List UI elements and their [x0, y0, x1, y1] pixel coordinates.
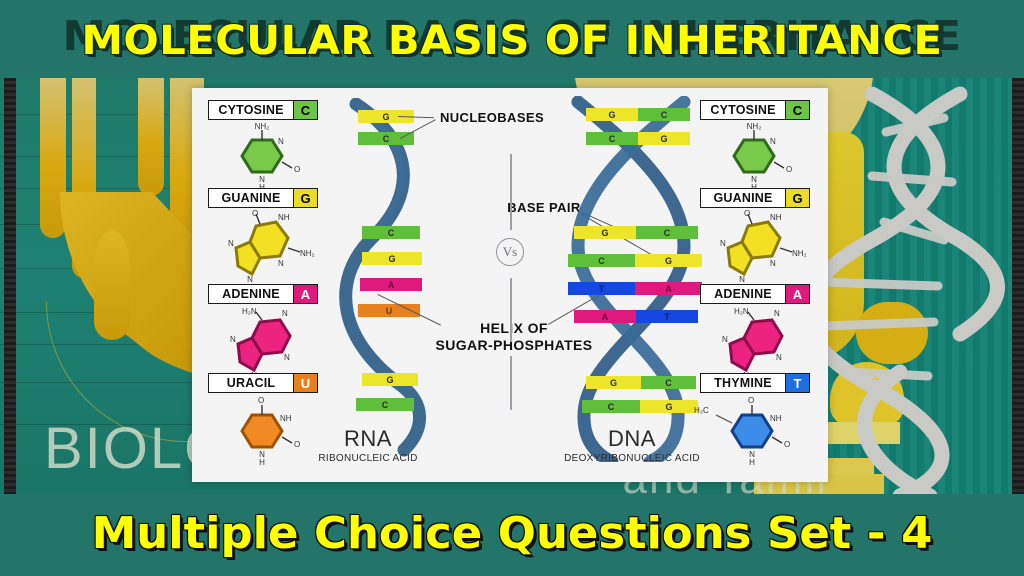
- base-letter-left: T: [568, 282, 635, 295]
- rna-rung-mid-2: G: [362, 252, 422, 265]
- rna-rung-mid-1: C: [362, 226, 420, 239]
- base-letter-right: T: [636, 310, 698, 323]
- svg-text:N: N: [776, 353, 782, 362]
- base-name: CYTOSINE: [209, 101, 293, 119]
- right-edge-band: [1012, 72, 1024, 496]
- base-letter-left: G: [574, 226, 636, 239]
- molecule-thymine-right: O NH O H₃C N H: [688, 393, 804, 471]
- base-letter-right: C: [638, 108, 690, 121]
- rna-name: RNA: [268, 426, 468, 452]
- base-letter-right: A: [635, 282, 702, 295]
- svg-text:N: N: [247, 275, 253, 284]
- svg-text:H: H: [259, 458, 265, 467]
- slide-canvas: BIOLOGY and Tamil CYTOSINE C NH₂ N O N H…: [0, 0, 1024, 576]
- base-chip-adenine-left: ADENINE A: [208, 284, 318, 304]
- dna-pair-mid-3: T A: [568, 282, 702, 295]
- title-banner: MOLECULAR BASIS OF INHERITANCE MOLECULAR…: [0, 0, 1024, 78]
- molecule-cytosine-left: NH₂ N O N H: [218, 122, 310, 190]
- svg-text:N: N: [739, 275, 745, 284]
- molecule-cytosine-right: NH₂ N O N H: [710, 122, 802, 190]
- svg-text:NH₂: NH₂: [255, 122, 270, 131]
- base-letter-right: G: [638, 132, 690, 145]
- left-edge-band: [4, 72, 16, 496]
- base-letter: U: [293, 374, 317, 392]
- base-letter: C: [293, 101, 317, 119]
- svg-text:N: N: [720, 239, 726, 248]
- base-letter-right: C: [636, 226, 698, 239]
- svg-text:O: O: [252, 209, 258, 218]
- nucleobases-label: NUCLEOBASES: [422, 110, 562, 126]
- svg-text:NH₂: NH₂: [747, 122, 762, 131]
- rna-full-name: RIBONUCLEIC ACID: [268, 453, 468, 464]
- base-chip-adenine-right: ADENINE A: [700, 284, 810, 304]
- svg-text:N: N: [278, 137, 284, 146]
- base-chip-guanine-right: GUANINE G: [700, 188, 810, 208]
- base-letter-right: G: [635, 254, 702, 267]
- base-chip-cytosine-left: CYTOSINE C: [208, 100, 318, 120]
- svg-text:N: N: [228, 239, 234, 248]
- svg-text:N: N: [282, 309, 288, 318]
- base-letter-left: C: [582, 400, 640, 413]
- svg-text:H: H: [749, 458, 755, 467]
- svg-text:NH: NH: [770, 213, 782, 222]
- base-name: ADENINE: [209, 285, 293, 303]
- base-chip-guanine-left: GUANINE G: [208, 188, 318, 208]
- dna-pair-bottom-1: G C: [586, 376, 696, 389]
- page-title: MOLECULAR BASIS OF INHERITANCE: [0, 18, 1024, 64]
- svg-text:NH₂: NH₂: [300, 249, 315, 258]
- base-letter: C: [356, 398, 414, 411]
- base-letter: G: [293, 189, 317, 207]
- svg-text:O: O: [786, 165, 792, 174]
- svg-text:O: O: [784, 440, 790, 449]
- base-name: GUANINE: [701, 189, 785, 207]
- base-letter-left: G: [586, 376, 641, 389]
- center-divider-mid: [510, 278, 512, 342]
- rna-rung-mid-3: A: [360, 278, 422, 291]
- content-card: CYTOSINE C NH₂ N O N H GUANINE G O NH N …: [192, 88, 828, 482]
- svg-text:O: O: [748, 396, 754, 405]
- svg-text:NH₂: NH₂: [792, 249, 807, 258]
- subtitle-banner: Multiple Choice Questions Set - 4: [0, 494, 1024, 576]
- base-name: THYMINE: [701, 374, 785, 392]
- base-letter: A: [360, 278, 422, 291]
- svg-text:N: N: [770, 137, 776, 146]
- molecule-guanine-right: O NH N NH₂ N N: [704, 208, 808, 284]
- center-divider-top: [510, 154, 512, 230]
- base-letter-left: A: [574, 310, 636, 323]
- base-letter-left: C: [568, 254, 635, 267]
- base-letter: G: [785, 189, 809, 207]
- base-letter-left: G: [586, 108, 638, 121]
- svg-text:H₂N: H₂N: [242, 307, 257, 316]
- svg-text:O: O: [294, 165, 300, 174]
- svg-text:N: N: [230, 335, 236, 344]
- svg-text:NH: NH: [280, 414, 292, 423]
- versus-badge: Vs: [496, 238, 524, 266]
- svg-text:N: N: [722, 335, 728, 344]
- dna-pair-bottom-2: C G: [582, 400, 698, 413]
- base-letter-left: C: [586, 132, 638, 145]
- rna-rung-bottom-1: G: [362, 373, 418, 386]
- rna-rung-bottom-2: C: [356, 398, 414, 411]
- svg-text:NH: NH: [770, 414, 782, 423]
- base-name: GUANINE: [209, 189, 293, 207]
- base-chip-thymine-right: THYMINE T: [700, 373, 810, 393]
- svg-text:O: O: [744, 209, 750, 218]
- base-letter: G: [362, 252, 422, 265]
- svg-text:O: O: [258, 396, 264, 405]
- molecule-adenine-right: H₂N N N N N: [704, 304, 808, 376]
- base-name: URACIL: [209, 374, 293, 392]
- svg-text:N: N: [278, 259, 284, 268]
- svg-text:N: N: [774, 309, 780, 318]
- svg-text:H₃C: H₃C: [694, 406, 709, 415]
- base-letter: T: [785, 374, 809, 392]
- base-chip-uracil-left: URACIL U: [208, 373, 318, 393]
- molecule-adenine-left: H₂N N N N N: [212, 304, 316, 376]
- svg-text:H₂N: H₂N: [734, 307, 749, 316]
- dna-pair-top-1: G C: [586, 108, 690, 121]
- rna-name-block: RNA RIBONUCLEIC ACID: [268, 426, 468, 464]
- base-letter-right: C: [641, 376, 696, 389]
- base-chip-cytosine-right: CYTOSINE C: [700, 100, 810, 120]
- center-divider-bottom: [510, 356, 512, 410]
- base-letter: A: [293, 285, 317, 303]
- dna-pair-mid-2: C G: [568, 254, 702, 267]
- base-letter: G: [362, 373, 418, 386]
- svg-text:N: N: [284, 353, 290, 362]
- dna-pair-top-2: C G: [586, 132, 690, 145]
- base-letter: A: [785, 285, 809, 303]
- base-letter: C: [362, 226, 420, 239]
- page-subtitle: Multiple Choice Questions Set - 4: [0, 508, 1024, 559]
- base-letter: C: [785, 101, 809, 119]
- base-name: CYTOSINE: [701, 101, 785, 119]
- molecule-guanine-left: O NH N NH₂ N N: [212, 208, 316, 284]
- base-name: ADENINE: [701, 285, 785, 303]
- svg-text:NH: NH: [278, 213, 290, 222]
- svg-text:N: N: [770, 259, 776, 268]
- dna-pair-mid-4: A T: [574, 310, 698, 323]
- dna-pair-mid-1: G C: [574, 226, 698, 239]
